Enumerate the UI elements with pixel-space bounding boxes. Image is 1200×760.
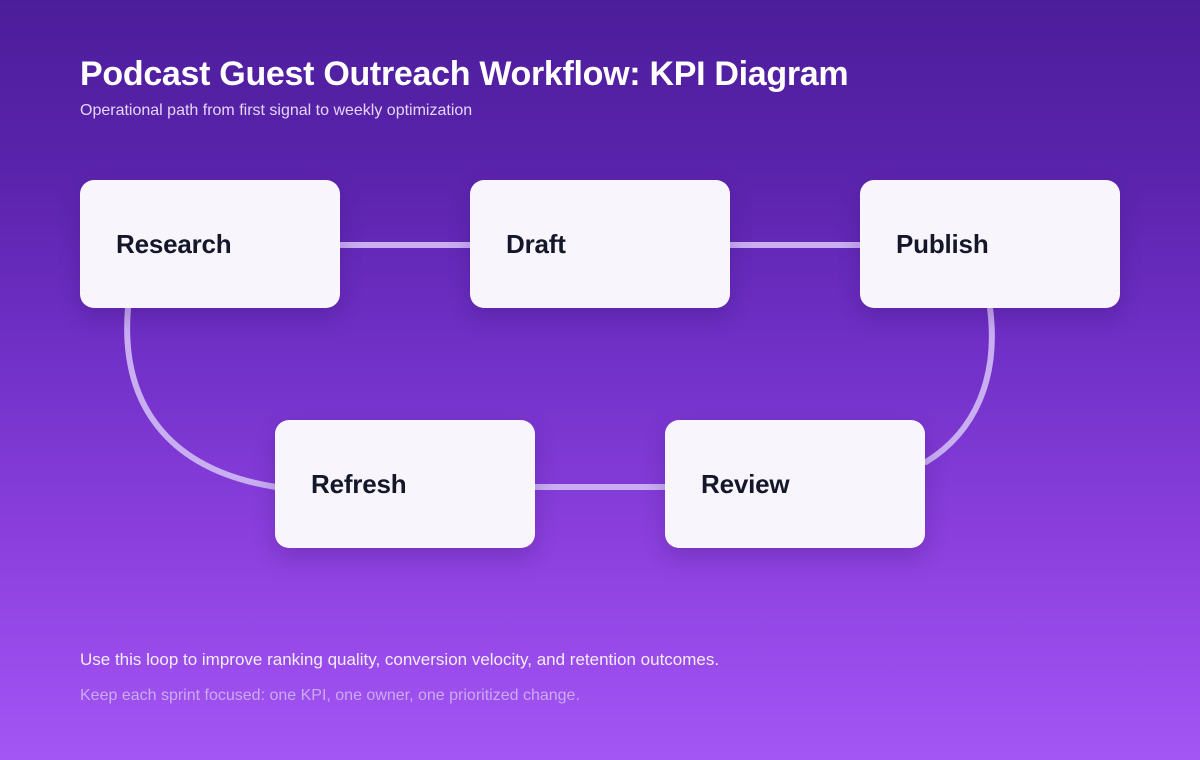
header: Podcast Guest Outreach Workflow: KPI Dia… <box>80 52 1120 122</box>
edge-publish-review <box>926 308 992 462</box>
page-subtitle: Operational path from first signal to we… <box>80 100 1120 122</box>
edge-refresh-research <box>127 308 276 487</box>
node-label: Draft <box>506 229 566 259</box>
node-refresh[interactable]: Refresh <box>275 420 535 548</box>
node-publish[interactable]: Publish <box>860 180 1120 308</box>
footer-secondary-text: Keep each sprint focused: one KPI, one o… <box>80 683 1120 709</box>
node-draft[interactable]: Draft <box>470 180 730 308</box>
footer-primary-text: Use this loop to improve ranking quality… <box>80 646 1120 674</box>
diagram-canvas: Podcast Guest Outreach Workflow: KPI Dia… <box>0 0 1200 760</box>
page-title: Podcast Guest Outreach Workflow: KPI Dia… <box>80 52 1120 96</box>
node-research[interactable]: Research <box>80 180 340 308</box>
node-label: Review <box>701 469 789 499</box>
node-label: Refresh <box>311 469 406 499</box>
node-label: Publish <box>896 229 989 259</box>
node-label: Research <box>116 229 231 259</box>
footer: Use this loop to improve ranking quality… <box>80 646 1120 709</box>
node-review[interactable]: Review <box>665 420 925 548</box>
